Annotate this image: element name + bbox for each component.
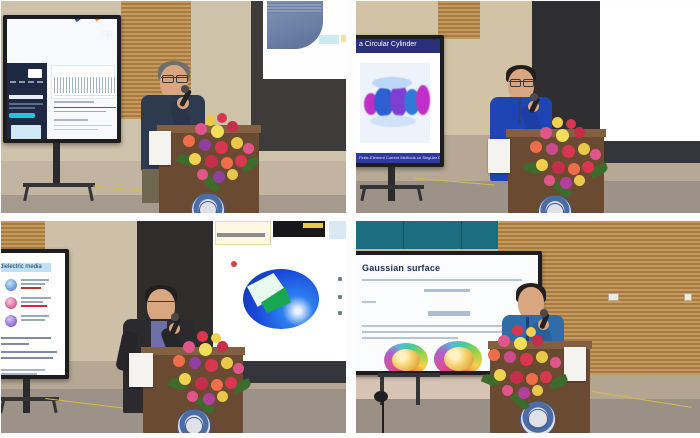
display-leg (416, 375, 420, 405)
slide-footer-bar: Finite-Element Current Methods on Singul… (356, 153, 440, 163)
panel-bottom-left[interactable]: dielectric media (1, 221, 346, 433)
flower-arrangement (175, 113, 261, 195)
display-stand (53, 143, 60, 185)
panel-bottom-right[interactable]: Gaussian surface (356, 221, 700, 433)
display-screen: a Circular Cylinder Finite-Element Curre… (356, 39, 440, 163)
slide-citation (1, 373, 37, 375)
podium-paper (129, 353, 153, 387)
display-stand (388, 167, 395, 201)
slide-figure (360, 63, 430, 143)
slide-icon-blue (5, 279, 17, 291)
podium-paper (149, 131, 171, 165)
slide-equation (424, 289, 470, 292)
slide-chart (54, 77, 117, 93)
panel-top-right[interactable]: a Circular Cylinder Finite-Element Curre… (356, 1, 700, 213)
slide-bullet (1, 343, 29, 345)
wood-slat-wall (438, 1, 480, 39)
microphone-head (181, 85, 189, 93)
projection-screen (600, 1, 700, 141)
microphone-head (171, 313, 179, 321)
slide-citation (1, 369, 45, 371)
projection-screen (263, 1, 346, 79)
slide-bullet (1, 351, 57, 353)
display-stand (23, 379, 30, 413)
slide-bullet (1, 357, 53, 359)
display-screen: dielectric media (1, 253, 65, 375)
panel-top-left[interactable]: FR (1, 1, 346, 213)
wall-display[interactable]: a Circular Cylinder Finite-Element Curre… (356, 35, 444, 167)
microphone-head (530, 93, 538, 101)
slide-equation (428, 311, 470, 316)
microphone-head (540, 309, 548, 317)
gaussian-core-left (392, 349, 420, 371)
glasses-icon (148, 301, 174, 302)
slide-title: dielectric media (1, 264, 42, 270)
slide-footer: Finite-Element Current Methods on Singul… (359, 155, 440, 160)
photo-collage: FR (0, 0, 700, 438)
wall-display[interactable]: FR (3, 15, 121, 143)
wood-slat-wall (1, 221, 45, 251)
slide-cta-button[interactable] (9, 113, 35, 118)
slide-corner-label: FR (101, 29, 113, 39)
slide-icon-magenta (5, 297, 17, 309)
slide-icon-purple (5, 315, 17, 327)
slide-title: Gaussian surface (362, 263, 440, 273)
screen-shadow-band (604, 141, 700, 163)
display-leg (378, 373, 440, 377)
teal-wall-panels (356, 221, 498, 249)
slide-title-bar: a Circular Cylinder (356, 39, 440, 53)
microphone-stand (382, 397, 384, 433)
wall-display[interactable]: dielectric media (1, 249, 69, 379)
podium-paper (488, 139, 510, 173)
flower-arrangement (169, 331, 255, 417)
slide-title: a Circular Cylinder (359, 41, 417, 48)
flower-arrangement (524, 117, 610, 201)
slide-body-line (362, 337, 458, 339)
slide-headline (9, 95, 43, 99)
slide-bullet (1, 337, 51, 339)
slide-body-line (362, 301, 376, 303)
gaussian-core-right (444, 347, 474, 371)
microphone-head (374, 391, 388, 402)
display-leg (360, 185, 424, 189)
display-screen: FR (7, 19, 117, 139)
flower-arrangement (482, 325, 572, 413)
slide-body-line (362, 279, 522, 281)
display-leg (23, 183, 95, 187)
